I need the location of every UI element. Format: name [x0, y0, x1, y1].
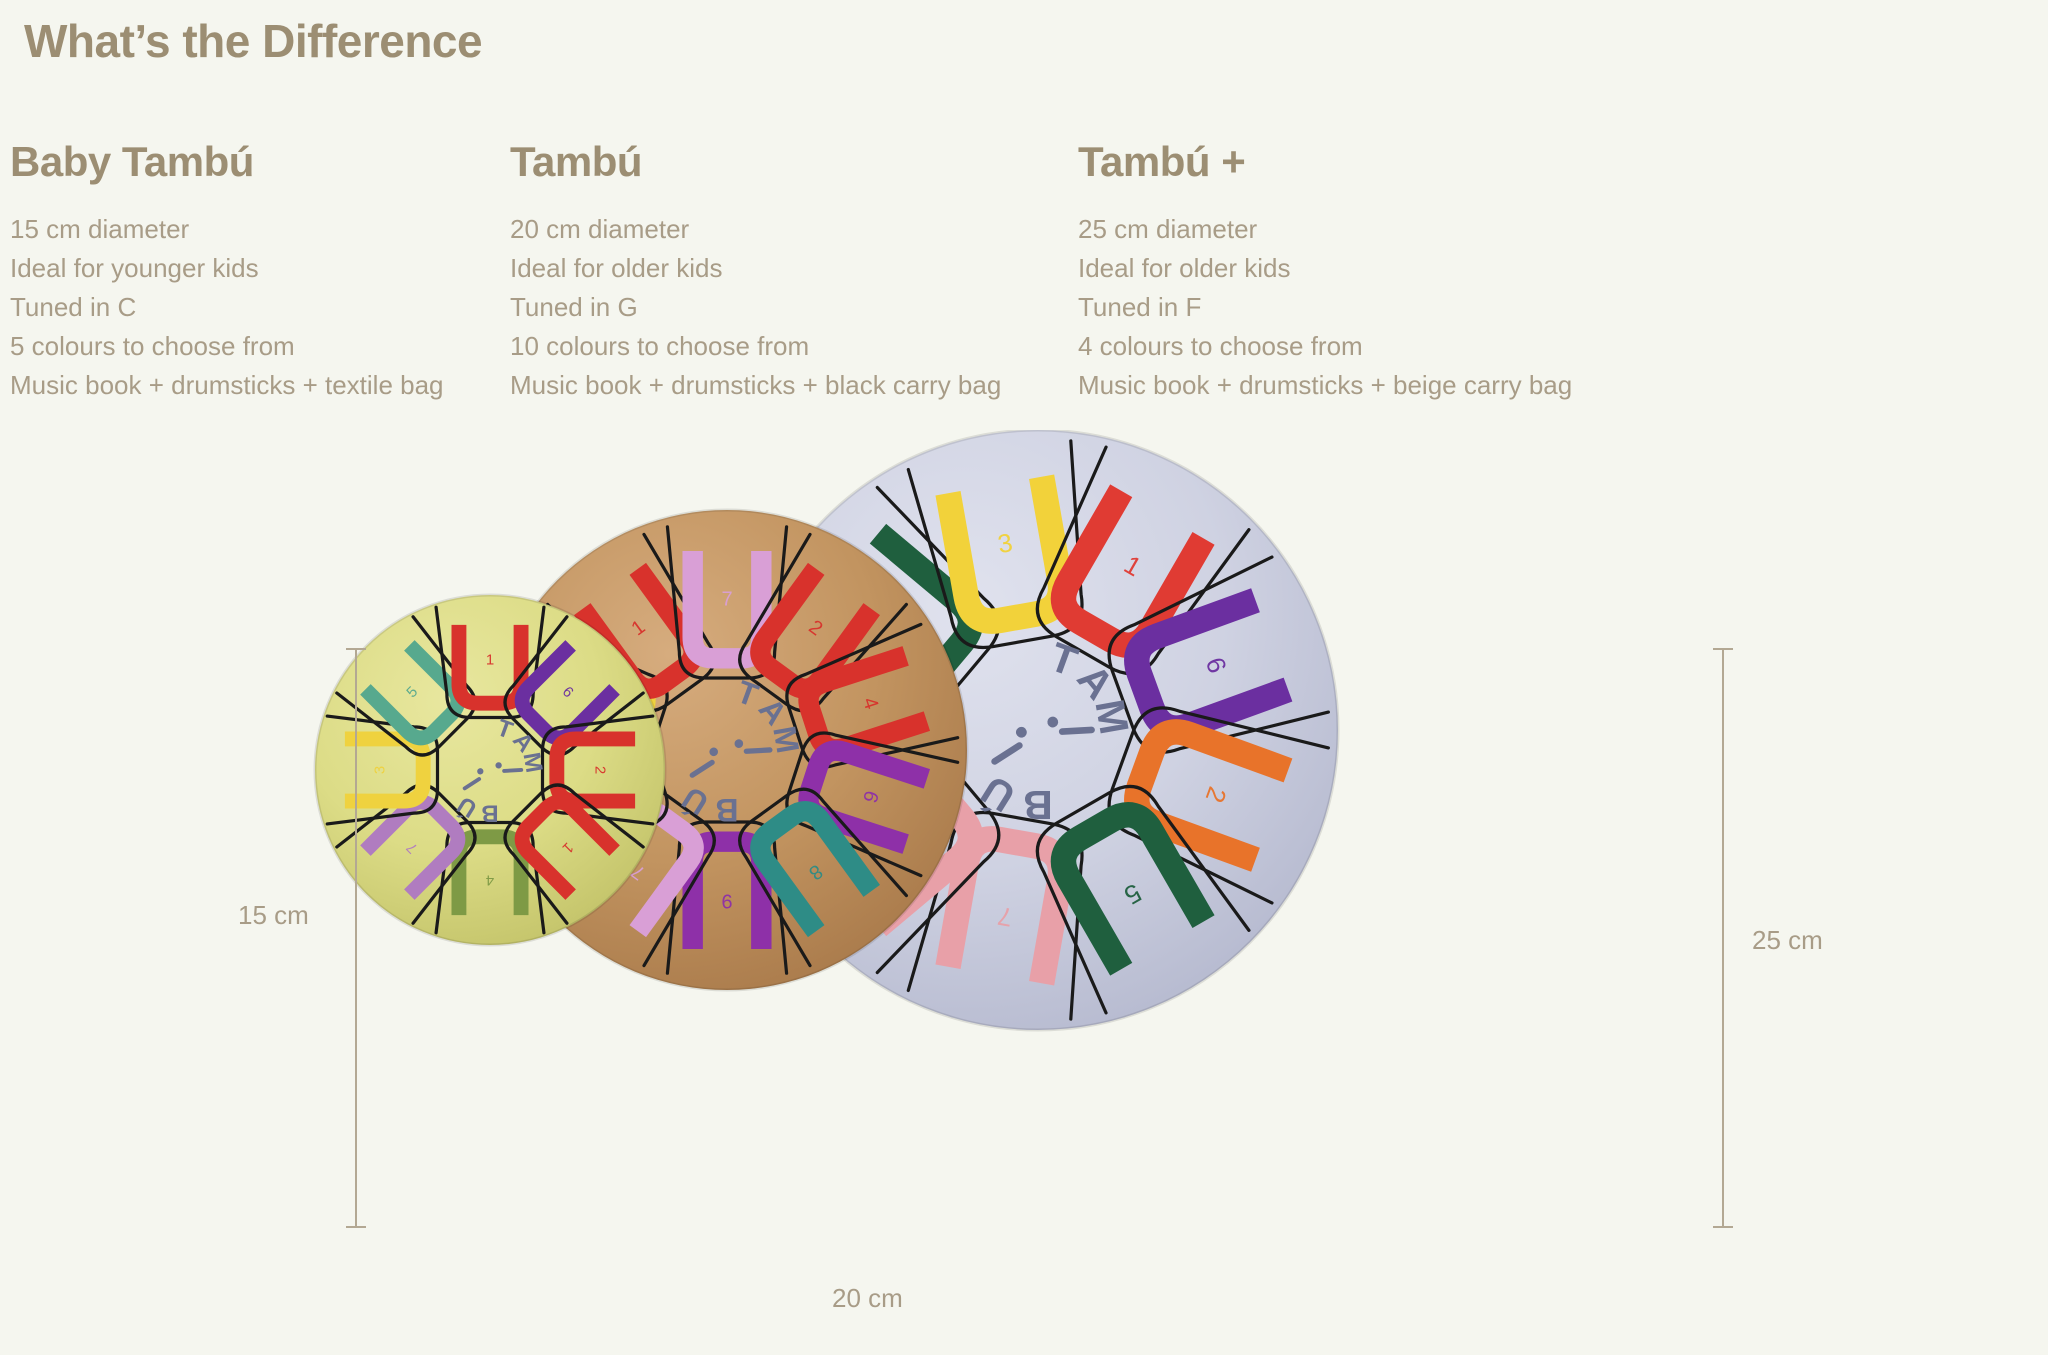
spec-line: 25 cm diameter — [1078, 210, 1572, 249]
product-column-baby-tambu: Baby Tambú 15 cm diameter Ideal for youn… — [10, 140, 444, 405]
spec-line: Ideal for older kids — [510, 249, 1001, 288]
spec-line: Ideal for younger kids — [10, 249, 444, 288]
spec-line: 5 colours to choose from — [10, 327, 444, 366]
column-heading: Tambú — [510, 140, 1001, 184]
spec-line: Music book + drumsticks + black carry ba… — [510, 366, 1001, 405]
tongue-number: 1 — [486, 652, 494, 669]
column-heading: Baby Tambú — [10, 140, 444, 184]
spec-line: 15 cm diameter — [10, 210, 444, 249]
tongue-number: 2 — [591, 766, 608, 774]
product-column-tambu: Tambú 20 cm diameter Ideal for older kid… — [510, 140, 1001, 405]
drums-illustration: 741531625TAMBÚ9753172468TAMBÚ47351621TAM… — [0, 430, 2048, 1350]
dimension-cap — [346, 1226, 366, 1228]
spec-line: 20 cm diameter — [510, 210, 1001, 249]
column-spec-list: 20 cm diameter Ideal for older kids Tune… — [510, 210, 1001, 405]
tongue-number: 9 — [721, 890, 732, 912]
column-heading: Tambú + — [1078, 140, 1572, 184]
dimension-label: 25 cm — [1752, 925, 1823, 956]
spec-line: Tuned in C — [10, 288, 444, 327]
page-root: What’s the Difference Baby Tambú 15 cm d… — [0, 0, 2048, 1351]
dimension-cap — [346, 648, 366, 650]
logo-letter: B — [715, 792, 738, 828]
tongue-number: 7 — [721, 588, 732, 610]
spec-line: 10 colours to choose from — [510, 327, 1001, 366]
spec-line: Tuned in G — [510, 288, 1001, 327]
dimension-line — [355, 648, 357, 1226]
column-spec-list: 25 cm diameter Ideal for older kids Tune… — [1078, 210, 1572, 405]
spec-line: 4 colours to choose from — [1078, 327, 1572, 366]
dimension-line — [1722, 648, 1724, 1226]
spec-line: Tuned in F — [1078, 288, 1572, 327]
tongue-number: 3 — [372, 766, 389, 774]
drum-body — [315, 595, 665, 945]
tongue-number: 4 — [486, 871, 494, 888]
dimension-label-20cm: 20 cm — [832, 1283, 903, 1314]
dimension-cap — [1713, 1226, 1733, 1228]
logo-letter: B — [1023, 782, 1053, 828]
page-title: What’s the Difference — [24, 14, 482, 68]
spec-line: Ideal for older kids — [1078, 249, 1572, 288]
drum-baby-tambu[interactable]: 47351621TAMBÚ — [315, 595, 665, 945]
product-size-comparison: 741531625TAMBÚ9753172468TAMBÚ47351621TAM… — [0, 430, 2048, 1350]
column-spec-list: 15 cm diameter Ideal for younger kids Tu… — [10, 210, 444, 405]
dimension-cap — [1713, 648, 1733, 650]
product-column-tambu-plus: Tambú + 25 cm diameter Ideal for older k… — [1078, 140, 1572, 405]
spec-line: Music book + drumsticks + textile bag — [10, 366, 444, 405]
logo-letter: B — [481, 800, 498, 827]
dimension-label: 15 cm — [238, 900, 309, 931]
spec-line: Music book + drumsticks + beige carry ba… — [1078, 366, 1572, 405]
